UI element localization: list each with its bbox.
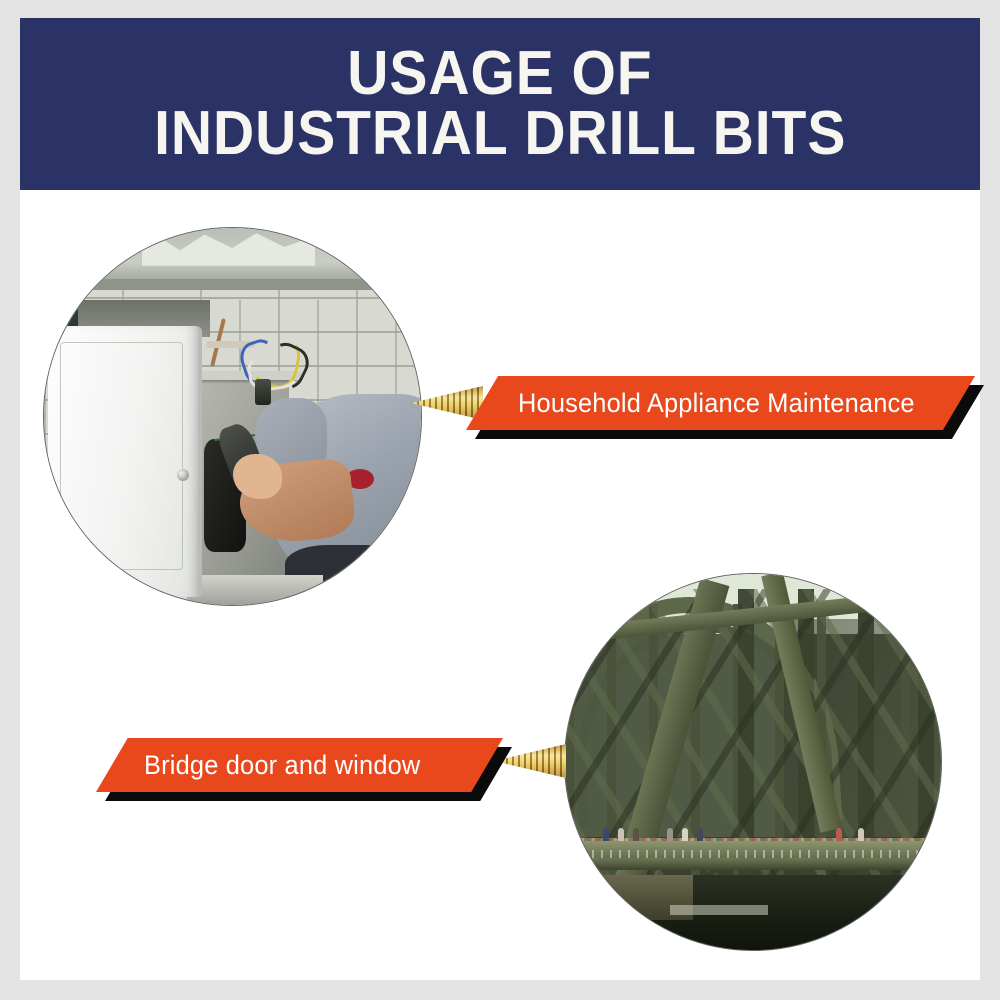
pedestrian [858, 828, 864, 841]
wall-lintel [44, 279, 421, 290]
pedestrian [618, 828, 624, 841]
appliance-repair-technician-photo [44, 228, 421, 605]
banner-label-text: Household Appliance Maintenance [518, 388, 915, 419]
wire-connector [255, 379, 271, 405]
under-bridge-light [670, 905, 768, 915]
page-title-line-1: USAGE OF [347, 44, 652, 104]
pedestrian [603, 828, 609, 841]
pedestrian [682, 828, 688, 841]
pedestrian [667, 828, 673, 841]
appliance-panel-door [48, 326, 203, 597]
bridge-walkway [565, 858, 941, 870]
photo-content [565, 574, 941, 950]
pedestrian [633, 828, 639, 841]
pedestrian [697, 828, 703, 841]
appliance-base-plate [187, 575, 323, 605]
steel-truss-bridge-photo [565, 574, 941, 950]
banner-label-text: Bridge door and window [144, 750, 420, 781]
label-banner-bridge-door-and-window[interactable]: Bridge door and window [96, 738, 503, 792]
label-banner-household-appliance-maintenance[interactable]: Household Appliance Maintenance [466, 376, 975, 430]
page-title-line-2: INDUSTRIAL DRILL BITS [154, 104, 846, 164]
pedestrians-group [565, 828, 941, 842]
infographic-page: USAGE OF INDUSTRIAL DRILL BITS [0, 0, 1000, 1000]
page-title-banner: USAGE OF INDUSTRIAL DRILL BITS [20, 18, 980, 190]
pedestrian [836, 828, 842, 841]
photo-content [44, 228, 421, 605]
banner-body: Household Appliance Maintenance [466, 376, 975, 430]
banner-body: Bridge door and window [96, 738, 503, 792]
